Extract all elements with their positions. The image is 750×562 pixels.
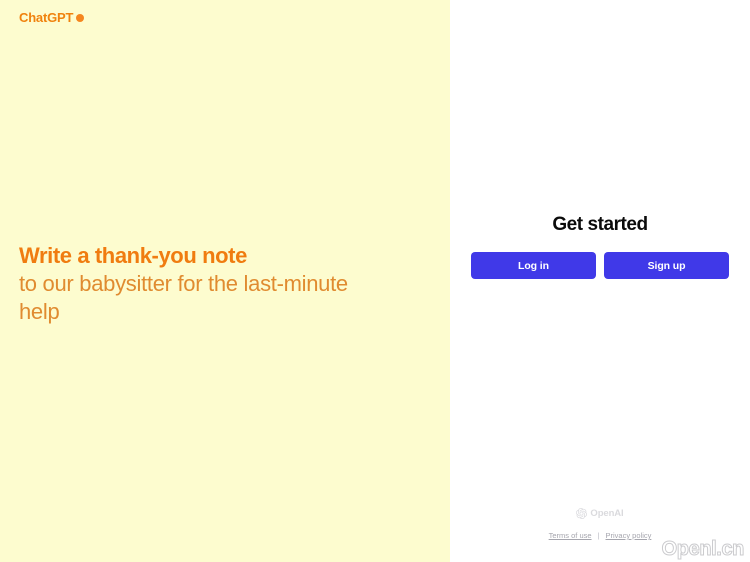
openai-blossom-icon: [576, 508, 587, 519]
privacy-policy-link[interactable]: Privacy policy: [606, 531, 652, 540]
chatgpt-brand-logo: ChatGPT: [19, 11, 84, 24]
openai-label: OpenAI: [590, 509, 623, 519]
brand-name: ChatGPT: [19, 11, 73, 24]
footer: OpenAI Terms of use | Privacy policy: [450, 508, 750, 540]
promo-headline-line1: to our babysitter for the last-minute: [19, 270, 419, 298]
promo-headline: Write a thank-you note to our babysitter…: [19, 242, 419, 326]
signup-button[interactable]: Sign up: [604, 252, 729, 279]
promo-panel: ChatGPT Write a thank-you note to our ba…: [0, 0, 450, 562]
login-page: ChatGPT Write a thank-you note to our ba…: [0, 0, 750, 562]
openai-logo: OpenAI: [576, 508, 623, 519]
auth-button-group: Log in Sign up: [471, 252, 729, 279]
legal-separator: |: [598, 531, 600, 540]
legal-links: Terms of use | Privacy policy: [549, 531, 652, 540]
login-button[interactable]: Log in: [471, 252, 596, 279]
promo-headline-line2: help: [19, 298, 419, 326]
auth-panel: Get started Log in Sign up OpenAI Terms …: [450, 0, 750, 562]
terms-of-use-link[interactable]: Terms of use: [549, 531, 592, 540]
promo-headline-strong: Write a thank-you note: [19, 242, 419, 270]
get-started-block: Get started Log in Sign up: [450, 214, 750, 279]
orange-dot-icon: [76, 14, 84, 22]
page-title: Get started: [552, 214, 647, 236]
